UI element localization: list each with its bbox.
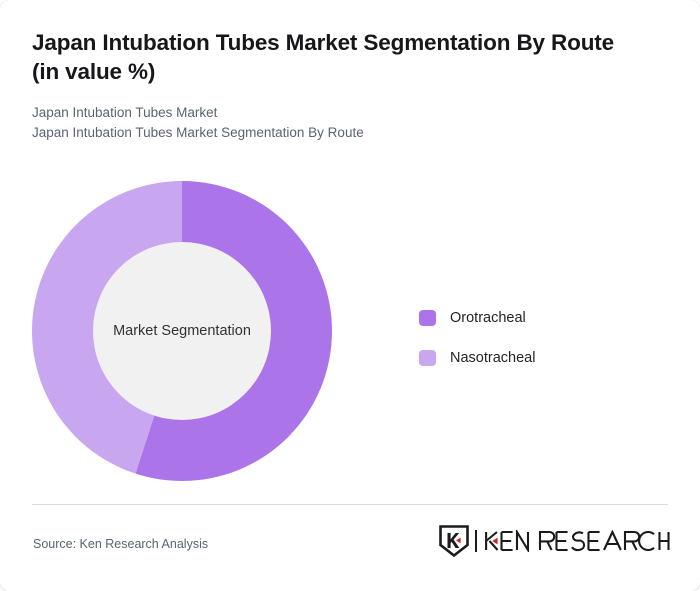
donut-chart: Market Segmentation	[32, 181, 332, 481]
footer-divider	[32, 504, 668, 505]
brand-divider	[475, 530, 477, 552]
chart-card: Japan Intubation Tubes Market Segmentati…	[0, 0, 700, 591]
ken-research-shield-icon	[439, 525, 469, 557]
legend-item-orotracheal[interactable]: Orotracheal	[419, 303, 535, 333]
chart-plot-area: Market Segmentation Orotracheal Nasotrac…	[0, 0, 700, 591]
legend-item-nasotracheal[interactable]: Nasotracheal	[419, 343, 535, 373]
donut-hole: Market Segmentation	[93, 242, 271, 420]
legend-item-label: Orotracheal	[450, 310, 526, 326]
chart-legend: Orotracheal Nasotracheal	[419, 303, 535, 383]
brand-logo	[439, 524, 670, 558]
legend-swatch-icon	[419, 350, 436, 366]
source-note: Source: Ken Research Analysis	[33, 537, 208, 551]
legend-item-label: Nasotracheal	[450, 350, 535, 366]
donut-center-label: Market Segmentation	[113, 323, 251, 339]
legend-swatch-icon	[419, 310, 436, 326]
brand-wordmark	[484, 530, 670, 552]
